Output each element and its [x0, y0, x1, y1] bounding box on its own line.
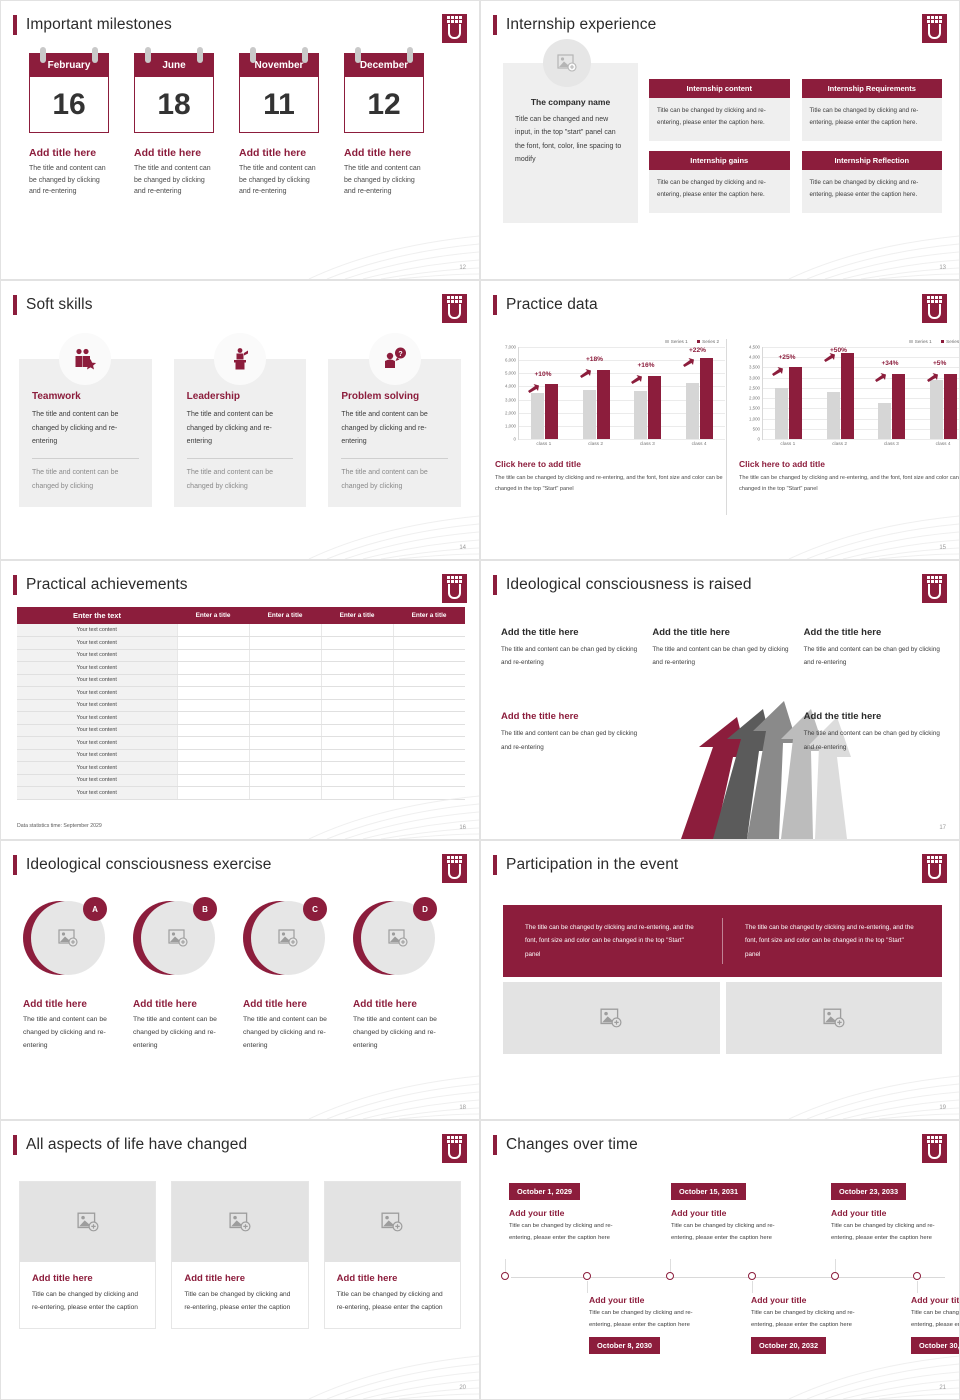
- bar-series-2: [545, 384, 558, 439]
- table-cell[interactable]: [321, 724, 393, 737]
- list-item[interactable]: November 11 Add title here The title and…: [239, 53, 319, 198]
- table-cell[interactable]: [393, 649, 465, 662]
- table-cell[interactable]: [393, 774, 465, 787]
- table-cell[interactable]: [393, 662, 465, 675]
- table-cell[interactable]: [177, 662, 249, 675]
- image-placeholder-icon: [229, 1212, 251, 1232]
- bar-group: [674, 347, 726, 439]
- table-cell[interactable]: [393, 674, 465, 687]
- list-item[interactable]: Internship content Title can be changed …: [649, 79, 790, 141]
- y-axis: 01,0002,0003,0004,0005,0006,0007,000: [495, 347, 518, 439]
- page-title: Changes over time: [506, 1136, 638, 1154]
- timeline-item[interactable]: October 15, 2031Add your titleTitle can …: [671, 1181, 793, 1244]
- skill-text-secondary: The title and content can be changed by …: [341, 466, 448, 493]
- card-image-placeholder[interactable]: [325, 1182, 460, 1262]
- table-cell[interactable]: [177, 687, 249, 700]
- trend-arrow-icon: [631, 371, 643, 380]
- item-title: Add title here: [243, 999, 327, 1010]
- circle-badge: C: [303, 897, 327, 921]
- logo-glyph-grid: [927, 856, 942, 863]
- plot-area: +25%+50%+34%+5%: [762, 347, 960, 439]
- item-title: Add the title here: [652, 627, 789, 638]
- card-title: Add title here: [184, 1273, 295, 1284]
- bar-series-2: [789, 367, 802, 439]
- university-logo: [922, 1134, 947, 1163]
- list-item[interactable]: AAdd title hereThe title and content can…: [23, 899, 107, 1053]
- table-cell[interactable]: [249, 624, 321, 637]
- divider: [341, 458, 448, 459]
- chart-plot: 01,0002,0003,0004,0005,0006,0007,000 +10…: [495, 347, 725, 439]
- timeline-item[interactable]: October 23, 2033Add your titleTitle can …: [831, 1181, 953, 1244]
- table-cell[interactable]: [321, 699, 393, 712]
- timeline-text: Title can be changed by clicking and re-…: [509, 1221, 631, 1244]
- table-cell[interactable]: [393, 724, 465, 737]
- timeline-axis: [511, 1277, 945, 1278]
- timeline-item[interactable]: Add your titleTitle can be changed by cl…: [911, 1287, 960, 1354]
- page-title: Practice data: [506, 296, 598, 314]
- university-logo: [922, 574, 947, 603]
- table-cell[interactable]: [321, 749, 393, 762]
- table-cell[interactable]: [321, 637, 393, 650]
- slide-all-aspects-of-life-have-changed: All aspects of life have changed Add tit…: [0, 1120, 480, 1400]
- timeline-dot[interactable]: [913, 1272, 921, 1280]
- slide-header: All aspects of life have changed: [13, 1135, 467, 1155]
- gridline: [763, 439, 960, 440]
- table-cell[interactable]: [177, 699, 249, 712]
- company-card[interactable]: The company name Title can be changed an…: [503, 63, 638, 223]
- table-cell[interactable]: Your text content: [17, 662, 177, 675]
- milestone-title: Add title here: [134, 147, 214, 159]
- slide-changes-over-time: Changes over time October 1, 2029Add you…: [480, 1120, 960, 1400]
- trend-arrow-icon: [683, 354, 695, 363]
- logo-glyph-grid: [447, 1136, 462, 1143]
- calendar-icon: November 11: [239, 53, 319, 133]
- card-body: Title can be changed by clicking and re-…: [649, 170, 790, 213]
- table-cell[interactable]: Your text content: [17, 624, 177, 637]
- card-title: Add title here: [32, 1273, 143, 1284]
- table-row[interactable]: Your text content: [17, 749, 465, 762]
- list-item[interactable]: Add title hereTitle can be changed by cl…: [324, 1181, 461, 1329]
- image-placeholder-icon: [381, 1212, 403, 1232]
- image-placeholder-icon: [823, 1008, 845, 1028]
- timeline-dot[interactable]: [583, 1272, 591, 1280]
- page-title: Soft skills: [26, 296, 93, 314]
- list-item[interactable]: Leadership The title and content can be …: [174, 359, 307, 507]
- table-row[interactable]: Your text content: [17, 699, 465, 712]
- table-cell[interactable]: [177, 624, 249, 637]
- card-header: Internship Requirements: [802, 79, 943, 98]
- page-number: 12: [459, 265, 466, 271]
- bar-series-1: [531, 393, 544, 439]
- table-row[interactable]: Your text content: [17, 737, 465, 750]
- x-axis: class 1class 2class 3class 4: [518, 439, 725, 447]
- table-cell[interactable]: Your text content: [17, 674, 177, 687]
- table-row[interactable]: Your text content: [17, 724, 465, 737]
- table-cell[interactable]: Your text content: [17, 774, 177, 787]
- logo-u-shape: [448, 1144, 461, 1159]
- table-cell[interactable]: [321, 737, 393, 750]
- university-logo: [442, 854, 467, 883]
- chart-heading: Click here to add title: [739, 459, 960, 469]
- table-cell[interactable]: [393, 762, 465, 775]
- page-title: All aspects of life have changed: [26, 1136, 247, 1154]
- table-cell[interactable]: [321, 687, 393, 700]
- image-placeholder-left[interactable]: [503, 982, 720, 1054]
- legend-item-series-2: Series 2: [697, 339, 719, 344]
- table-cell[interactable]: [321, 662, 393, 675]
- table-cell[interactable]: Your text content: [17, 737, 177, 750]
- table-cell[interactable]: Your text content: [17, 762, 177, 775]
- table-cell[interactable]: [249, 787, 321, 800]
- table-column-header[interactable]: Enter a title: [249, 607, 321, 624]
- image-placeholder-icon: [557, 54, 577, 72]
- timeline-dot[interactable]: [748, 1272, 756, 1280]
- table-cell[interactable]: [393, 737, 465, 750]
- slide-ideological-consciousness-exercise: Ideological consciousness exercise AAdd …: [0, 840, 480, 1120]
- bar-group: [519, 347, 571, 439]
- event-image-row: [503, 982, 942, 1054]
- timeline-item[interactable]: October 1, 2029Add your titleTitle can b…: [509, 1181, 631, 1244]
- logo-glyph-grid: [447, 296, 462, 303]
- legend-item-series-2: Series 2: [941, 339, 960, 344]
- table-row[interactable]: Your text content: [17, 787, 465, 800]
- table-cell[interactable]: [177, 787, 249, 800]
- card-title: Add title here: [337, 1273, 448, 1284]
- table-row[interactable]: Your text content: [17, 649, 465, 662]
- table-cell[interactable]: [393, 749, 465, 762]
- table-column-header[interactable]: Enter a title: [321, 607, 393, 624]
- table-cell[interactable]: Your text content: [17, 787, 177, 800]
- table-cell[interactable]: [321, 762, 393, 775]
- table-cell[interactable]: [321, 774, 393, 787]
- table-cell[interactable]: [393, 699, 465, 712]
- table-row[interactable]: Your text content: [17, 774, 465, 787]
- table-cell[interactable]: [249, 712, 321, 725]
- timeline-date: October 1, 2029: [509, 1183, 580, 1200]
- image-placeholder-icon: [58, 929, 78, 947]
- chart-legend: Series 1 Series 2: [495, 339, 725, 344]
- x-tick: class 1: [518, 440, 570, 447]
- logo-u-shape: [448, 584, 461, 599]
- slide-header: Internship experience: [493, 15, 947, 35]
- list-item[interactable]: Internship gains Title can be changed by…: [649, 151, 790, 213]
- milestone-list: February 16 Add title here The title and…: [29, 53, 459, 198]
- slide-practical-achievements: Practical achievements Enter the textEnt…: [0, 560, 480, 840]
- logo-glyph-grid: [447, 576, 462, 583]
- milestone-desc: The title and content can be changed by …: [29, 163, 109, 198]
- item-title: Add the title here: [501, 711, 638, 722]
- logo-glyph-grid: [927, 296, 942, 303]
- bar-annotation: +16%: [637, 362, 654, 369]
- calendar-ring-right: [197, 47, 203, 63]
- skill-title: Teamwork: [32, 391, 139, 402]
- list-item[interactable]: Add the title here The title and content…: [501, 627, 638, 669]
- timeline-title: Add your title: [751, 1295, 873, 1305]
- slide-header: Practical achievements: [13, 575, 467, 595]
- logo-u-shape: [928, 304, 941, 319]
- x-tick: class 2: [814, 440, 866, 447]
- slide-header: Soft skills: [13, 295, 467, 315]
- table-cell[interactable]: [321, 674, 393, 687]
- y-tick: 1,500: [749, 406, 760, 411]
- timeline-title: Add your title: [509, 1208, 631, 1218]
- table-cell[interactable]: [393, 787, 465, 800]
- table-cell[interactable]: Your text content: [17, 749, 177, 762]
- bar-chart-left: Series 1 Series 2 01,0002,0003,0004,0005…: [495, 339, 725, 496]
- bar-series-2: [892, 374, 905, 439]
- image-placeholder-icon: [600, 1008, 622, 1028]
- table-cell[interactable]: [249, 749, 321, 762]
- list-item[interactable]: Add the title here The title and content…: [804, 711, 941, 753]
- table-cell[interactable]: [249, 662, 321, 675]
- bar-series-2: [944, 374, 957, 439]
- slide-internship-experience: Internship experience The company name T…: [480, 0, 960, 280]
- x-tick: class 1: [762, 440, 814, 447]
- circle-badge: B: [193, 897, 217, 921]
- list-item[interactable]: Add title hereTitle can be changed by cl…: [19, 1181, 156, 1329]
- table-cell[interactable]: [321, 649, 393, 662]
- card-body: Add title hereTitle can be changed by cl…: [325, 1262, 460, 1328]
- bar-series-1: [775, 388, 788, 439]
- item-text: The title and content can be chan ged by…: [804, 727, 941, 753]
- calendar-day: 12: [345, 77, 423, 132]
- divider: [187, 458, 294, 459]
- table-cell[interactable]: Your text content: [17, 687, 177, 700]
- logo-glyph-grid: [927, 1136, 942, 1143]
- skill-text: The title and content can be changed by …: [341, 408, 448, 449]
- list-item[interactable]: February 16 Add title here The title and…: [29, 53, 109, 198]
- slide-soft-skills: Soft skills Teamwork The title and conte…: [0, 280, 480, 560]
- table-cell[interactable]: Your text content: [17, 712, 177, 725]
- timeline-title: Add your title: [831, 1208, 953, 1218]
- milestone-title: Add title here: [344, 147, 424, 159]
- item-text: The title and content can be chan ged by…: [804, 643, 941, 669]
- table-cell[interactable]: [177, 637, 249, 650]
- table-cell[interactable]: Your text content: [17, 699, 177, 712]
- bar-annotation: +25%: [778, 354, 795, 361]
- logo-glyph-grid: [447, 16, 462, 23]
- timeline-text: Title can be changed by clicking and re-…: [671, 1221, 793, 1244]
- y-tick: 5,000: [505, 371, 516, 376]
- table-cell[interactable]: [177, 762, 249, 775]
- table-cell[interactable]: Your text content: [17, 724, 177, 737]
- bar-series: [763, 347, 960, 439]
- table-row[interactable]: Your text content: [17, 674, 465, 687]
- university-logo: [922, 14, 947, 43]
- title-accent-bar: [493, 15, 497, 35]
- page-number: 13: [939, 265, 946, 271]
- y-tick: 3,000: [505, 397, 516, 402]
- item-title: Add the title here: [804, 711, 941, 722]
- y-tick: 2,500: [749, 385, 760, 390]
- timeline: October 1, 2029Add your titleTitle can b…: [501, 1181, 945, 1371]
- timeline-item[interactable]: Add your titleTitle can be changed by cl…: [589, 1287, 711, 1354]
- company-desc: Title can be changed and new input, in t…: [515, 113, 626, 166]
- card-text: Title can be changed by clicking and re-…: [32, 1289, 143, 1315]
- item-text: The title and content can be chan ged by…: [652, 643, 789, 669]
- calendar-ring-right: [92, 47, 98, 63]
- logo-u-shape: [928, 864, 941, 879]
- timeline-title: Add your title: [671, 1208, 793, 1218]
- page-number: 16: [459, 825, 466, 831]
- trend-arrow-icon: [927, 369, 939, 378]
- table-cell[interactable]: [393, 637, 465, 650]
- bar-annotation: +5%: [933, 360, 946, 367]
- list-item[interactable]: CAdd title hereThe title and content can…: [243, 899, 327, 1053]
- table-cell[interactable]: Your text content: [17, 649, 177, 662]
- bar-annotation: +34%: [881, 360, 898, 367]
- table-cell[interactable]: [177, 712, 249, 725]
- list-item[interactable]: December 12 Add title here The title and…: [344, 53, 424, 198]
- card-image-placeholder[interactable]: [20, 1182, 155, 1262]
- list-item[interactable]: June 18 Add title here The title and con…: [134, 53, 214, 198]
- page-number: 20: [459, 1385, 466, 1391]
- logo-glyph-grid: [927, 576, 942, 583]
- list-item[interactable]: Internship Reflection Title can be chang…: [802, 151, 943, 213]
- table-row[interactable]: Your text content: [17, 637, 465, 650]
- table-column-header[interactable]: Enter a title: [393, 607, 465, 624]
- item-title: Add title here: [23, 999, 107, 1010]
- bar-series-1: [686, 383, 699, 439]
- title-accent-bar: [13, 855, 17, 875]
- logo-glyph-grid: [927, 16, 942, 23]
- card-body: Add title hereTitle can be changed by cl…: [172, 1262, 307, 1328]
- internship-card-grid: Internship content Title can be changed …: [649, 79, 942, 213]
- card-text: Title can be changed by clicking and re-…: [337, 1289, 448, 1315]
- table-cell[interactable]: [249, 737, 321, 750]
- table-cell[interactable]: Your text content: [17, 637, 177, 650]
- table-cell[interactable]: [177, 774, 249, 787]
- table-row[interactable]: Your text content: [17, 687, 465, 700]
- table-cell[interactable]: [249, 687, 321, 700]
- slide-participation-in-the-event: Participation in the event The title can…: [480, 840, 960, 1120]
- table-cell[interactable]: [249, 762, 321, 775]
- list-item[interactable]: DAdd title hereThe title and content can…: [353, 899, 437, 1053]
- page-title: Ideological consciousness is raised: [506, 576, 752, 594]
- list-item[interactable]: Add the title here The title and content…: [501, 711, 638, 753]
- university-logo: [922, 294, 947, 323]
- table-cell[interactable]: [321, 712, 393, 725]
- table-cell[interactable]: [177, 674, 249, 687]
- bar-series-1: [878, 403, 891, 439]
- timeline-dot[interactable]: [501, 1272, 509, 1280]
- slide-header: Ideological consciousness is raised: [493, 575, 947, 595]
- table-cell[interactable]: [249, 674, 321, 687]
- table-column-header[interactable]: Enter a title: [177, 607, 249, 624]
- table-cell[interactable]: [249, 724, 321, 737]
- table-row[interactable]: Your text content: [17, 624, 465, 637]
- table-row[interactable]: Your text content: [17, 712, 465, 725]
- leadership-podium-icon: [214, 333, 266, 385]
- milestone-title: Add title here: [29, 147, 109, 159]
- table-cell[interactable]: [321, 787, 393, 800]
- timeline-date: October 30, 2034: [911, 1337, 960, 1354]
- university-logo: [442, 294, 467, 323]
- table-cell[interactable]: [177, 649, 249, 662]
- image-placeholder-icon: [278, 929, 298, 947]
- list-item[interactable]: ? Problem solving The title and content …: [328, 359, 461, 507]
- milestone-desc: The title and content can be changed by …: [344, 163, 424, 198]
- title-accent-bar: [493, 575, 497, 595]
- bar-group: [815, 347, 867, 439]
- item-text: The title and content can be chan ged by…: [501, 643, 638, 669]
- y-tick: 4,500: [749, 345, 760, 350]
- skill-text-secondary: The title and content can be changed by …: [32, 466, 139, 493]
- table-cell[interactable]: [393, 687, 465, 700]
- bar-group: [622, 347, 674, 439]
- card-body: Title can be changed by clicking and re-…: [802, 98, 943, 141]
- list-item[interactable]: Add the title here The title and content…: [652, 627, 789, 669]
- x-tick: class 3: [866, 440, 918, 447]
- list-item[interactable]: Add the title here The title and content…: [804, 627, 941, 669]
- calendar-day: 16: [30, 77, 108, 132]
- timeline-dot[interactable]: [666, 1272, 674, 1280]
- trend-arrow-icon: [772, 363, 784, 372]
- table-cell[interactable]: [393, 712, 465, 725]
- table-cell[interactable]: [249, 637, 321, 650]
- bar-series-1: [827, 392, 840, 439]
- timeline-text: Title can be changed by clicking and re-…: [911, 1308, 960, 1331]
- list-item[interactable]: Internship Requirements Title can be cha…: [802, 79, 943, 141]
- timeline-dot[interactable]: [831, 1272, 839, 1280]
- company-image-placeholder[interactable]: [543, 39, 591, 87]
- table-cell[interactable]: [249, 699, 321, 712]
- card-header: Internship gains: [649, 151, 790, 170]
- card-header: Internship content: [649, 79, 790, 98]
- y-tick: 500: [753, 426, 760, 431]
- chart-plot: 05001,0001,5002,0002,5003,0003,5004,0004…: [739, 347, 960, 439]
- divider: [32, 458, 139, 459]
- plot-area: +10%+18%+16%+22%: [518, 347, 725, 439]
- table-row[interactable]: Your text content: [17, 762, 465, 775]
- card-image-placeholder[interactable]: [172, 1182, 307, 1262]
- problem-solving-icon: ?: [369, 333, 421, 385]
- list-item[interactable]: Teamwork The title and content can be ch…: [19, 359, 152, 507]
- achievements-table: Enter the textEnter a titleEnter a title…: [17, 607, 465, 800]
- table-cell[interactable]: [177, 724, 249, 737]
- title-accent-bar: [493, 1135, 497, 1155]
- page-title: Ideological consciousness exercise: [26, 856, 272, 874]
- bar-series-1: [583, 390, 596, 439]
- timeline-title: Add your title: [911, 1295, 960, 1305]
- milestone-desc: The title and content can be changed by …: [239, 163, 319, 198]
- y-tick: 4,000: [505, 384, 516, 389]
- item-text: The title and content can be changed by …: [243, 1014, 327, 1053]
- list-item[interactable]: BAdd title hereThe title and content can…: [133, 899, 217, 1053]
- calendar-day: 11: [240, 77, 318, 132]
- image-placeholder-right[interactable]: [726, 982, 943, 1054]
- table-cell[interactable]: [177, 749, 249, 762]
- logo-u-shape: [448, 24, 461, 39]
- table-cell[interactable]: [249, 774, 321, 787]
- timeline-item[interactable]: Add your titleTitle can be changed by cl…: [751, 1287, 873, 1354]
- page-title: Participation in the event: [506, 856, 678, 874]
- logo-u-shape: [928, 584, 941, 599]
- table-cell[interactable]: [393, 624, 465, 637]
- milestone-title: Add title here: [239, 147, 319, 159]
- timeline-text: Title can be changed by clicking and re-…: [751, 1308, 873, 1331]
- y-axis: 05001,0001,5002,0002,5003,0003,5004,0004…: [739, 347, 762, 439]
- table-column-header[interactable]: Enter the text: [17, 607, 177, 624]
- table-row[interactable]: Your text content: [17, 662, 465, 675]
- table-cell[interactable]: [249, 649, 321, 662]
- table-cell[interactable]: [177, 737, 249, 750]
- chart-description: The title can be changed by clicking and…: [739, 473, 960, 496]
- list-item[interactable]: Add title hereTitle can be changed by cl…: [171, 1181, 308, 1329]
- logo-u-shape: [448, 304, 461, 319]
- svg-text:?: ?: [398, 351, 402, 358]
- table-cell[interactable]: [321, 624, 393, 637]
